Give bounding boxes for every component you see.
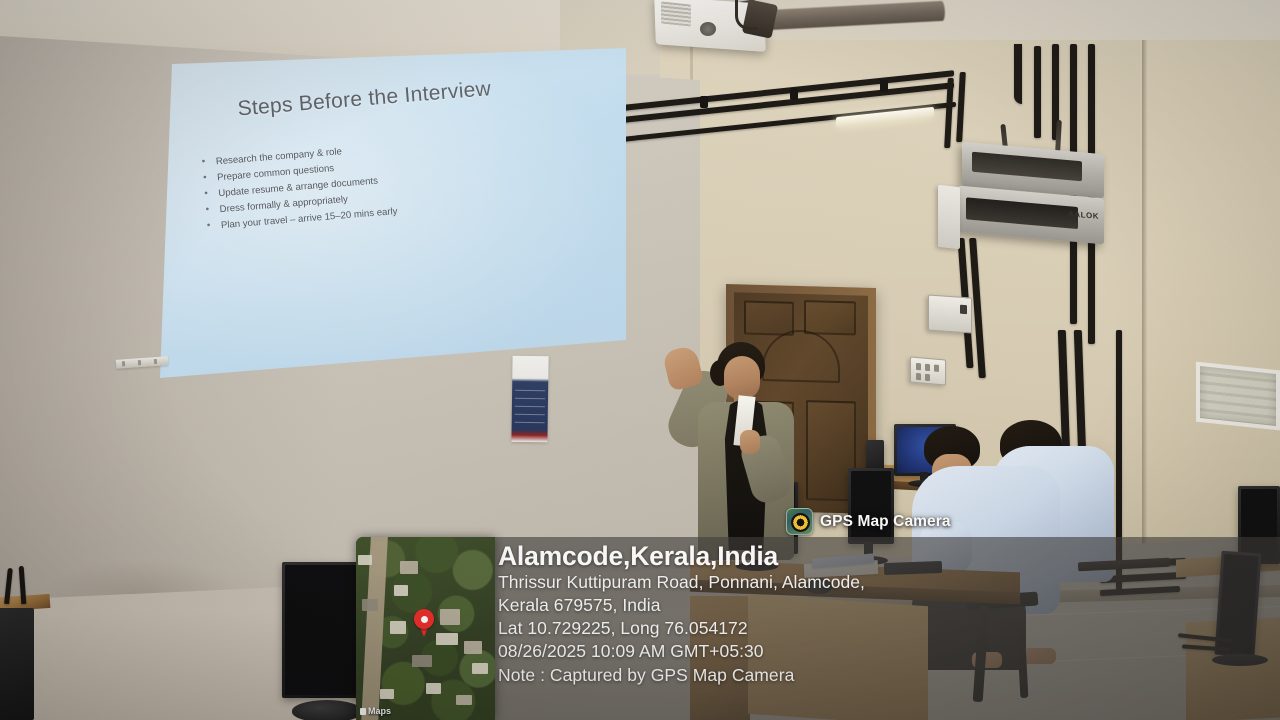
projector-cable bbox=[735, 0, 757, 30]
apple-logo-icon bbox=[360, 708, 366, 715]
switch-toggle[interactable] bbox=[934, 365, 939, 372]
projection-glow bbox=[160, 48, 626, 378]
headphones[interactable] bbox=[292, 700, 362, 720]
wall-vent-window bbox=[1196, 362, 1280, 431]
map-building bbox=[394, 585, 408, 596]
projection-screen bbox=[160, 48, 626, 378]
conduit-vertical bbox=[1014, 44, 1022, 104]
map-building bbox=[464, 641, 482, 654]
map-attribution: Maps bbox=[360, 706, 391, 716]
coordinates-line: Lat 10.729225, Long 76.054172 bbox=[498, 617, 1280, 640]
equipment-face-plate bbox=[972, 152, 1082, 182]
monitor-foreground-left bbox=[282, 562, 360, 698]
equipment-face-plate bbox=[966, 197, 1078, 229]
monitor-screen bbox=[285, 565, 357, 695]
switch-toggle[interactable] bbox=[916, 373, 921, 380]
gps-badge-label: GPS Map Camera bbox=[820, 513, 951, 531]
switch-toggle[interactable] bbox=[925, 374, 930, 381]
projector-lens bbox=[700, 22, 716, 36]
gps-map-camera-badge: GPS Map Camera bbox=[786, 508, 951, 535]
lower-hand bbox=[740, 430, 760, 454]
equipment-side-panel bbox=[938, 185, 960, 249]
map-building bbox=[390, 621, 406, 634]
timestamp-line: 08/26/2025 10:09 AM GMT+05:30 bbox=[498, 640, 1280, 663]
conduit-clamp bbox=[790, 88, 798, 100]
map-building bbox=[440, 609, 460, 625]
map-thumbnail[interactable]: Maps bbox=[356, 537, 495, 720]
map-building bbox=[380, 689, 394, 699]
map-attribution-label: Maps bbox=[368, 706, 391, 716]
map-building bbox=[362, 599, 378, 611]
map-building bbox=[456, 695, 472, 705]
map-building bbox=[400, 561, 418, 574]
conduit-clamp bbox=[700, 96, 708, 108]
gps-map-camera-photo: AALOK ≋≋ Steps Before the Interview Rese… bbox=[0, 0, 1280, 720]
map-building bbox=[472, 663, 488, 674]
map-building bbox=[436, 633, 458, 645]
map-building bbox=[412, 655, 432, 667]
projector-vent bbox=[661, 1, 691, 26]
location-title: Alamcode,Kerala,India bbox=[498, 542, 1280, 571]
wall-notice-poster bbox=[511, 356, 548, 442]
conduit-vertical bbox=[1034, 46, 1041, 138]
conduit-clamp bbox=[880, 80, 888, 92]
location-pin bbox=[414, 609, 434, 637]
camera-lens-icon bbox=[786, 508, 813, 535]
gps-info-overlay: Alamcode,Kerala,India Thrissur Kuttipura… bbox=[488, 537, 1280, 720]
address-line-2: Kerala 679575, India bbox=[498, 594, 1280, 617]
note-line: Note : Captured by GPS Map Camera bbox=[498, 664, 1280, 687]
address-line-1: Thrissur Kuttipuram Road, Ponnani, Alamc… bbox=[498, 571, 1280, 594]
wall-switch-panel bbox=[910, 356, 946, 385]
cpu-tower bbox=[0, 608, 34, 720]
wall-corner-edge bbox=[1142, 40, 1147, 600]
switch-toggle[interactable] bbox=[925, 364, 930, 371]
electrical-distribution-box bbox=[928, 294, 972, 333]
map-building bbox=[426, 683, 441, 694]
map-building bbox=[358, 555, 372, 565]
switch-toggle[interactable] bbox=[916, 363, 921, 370]
